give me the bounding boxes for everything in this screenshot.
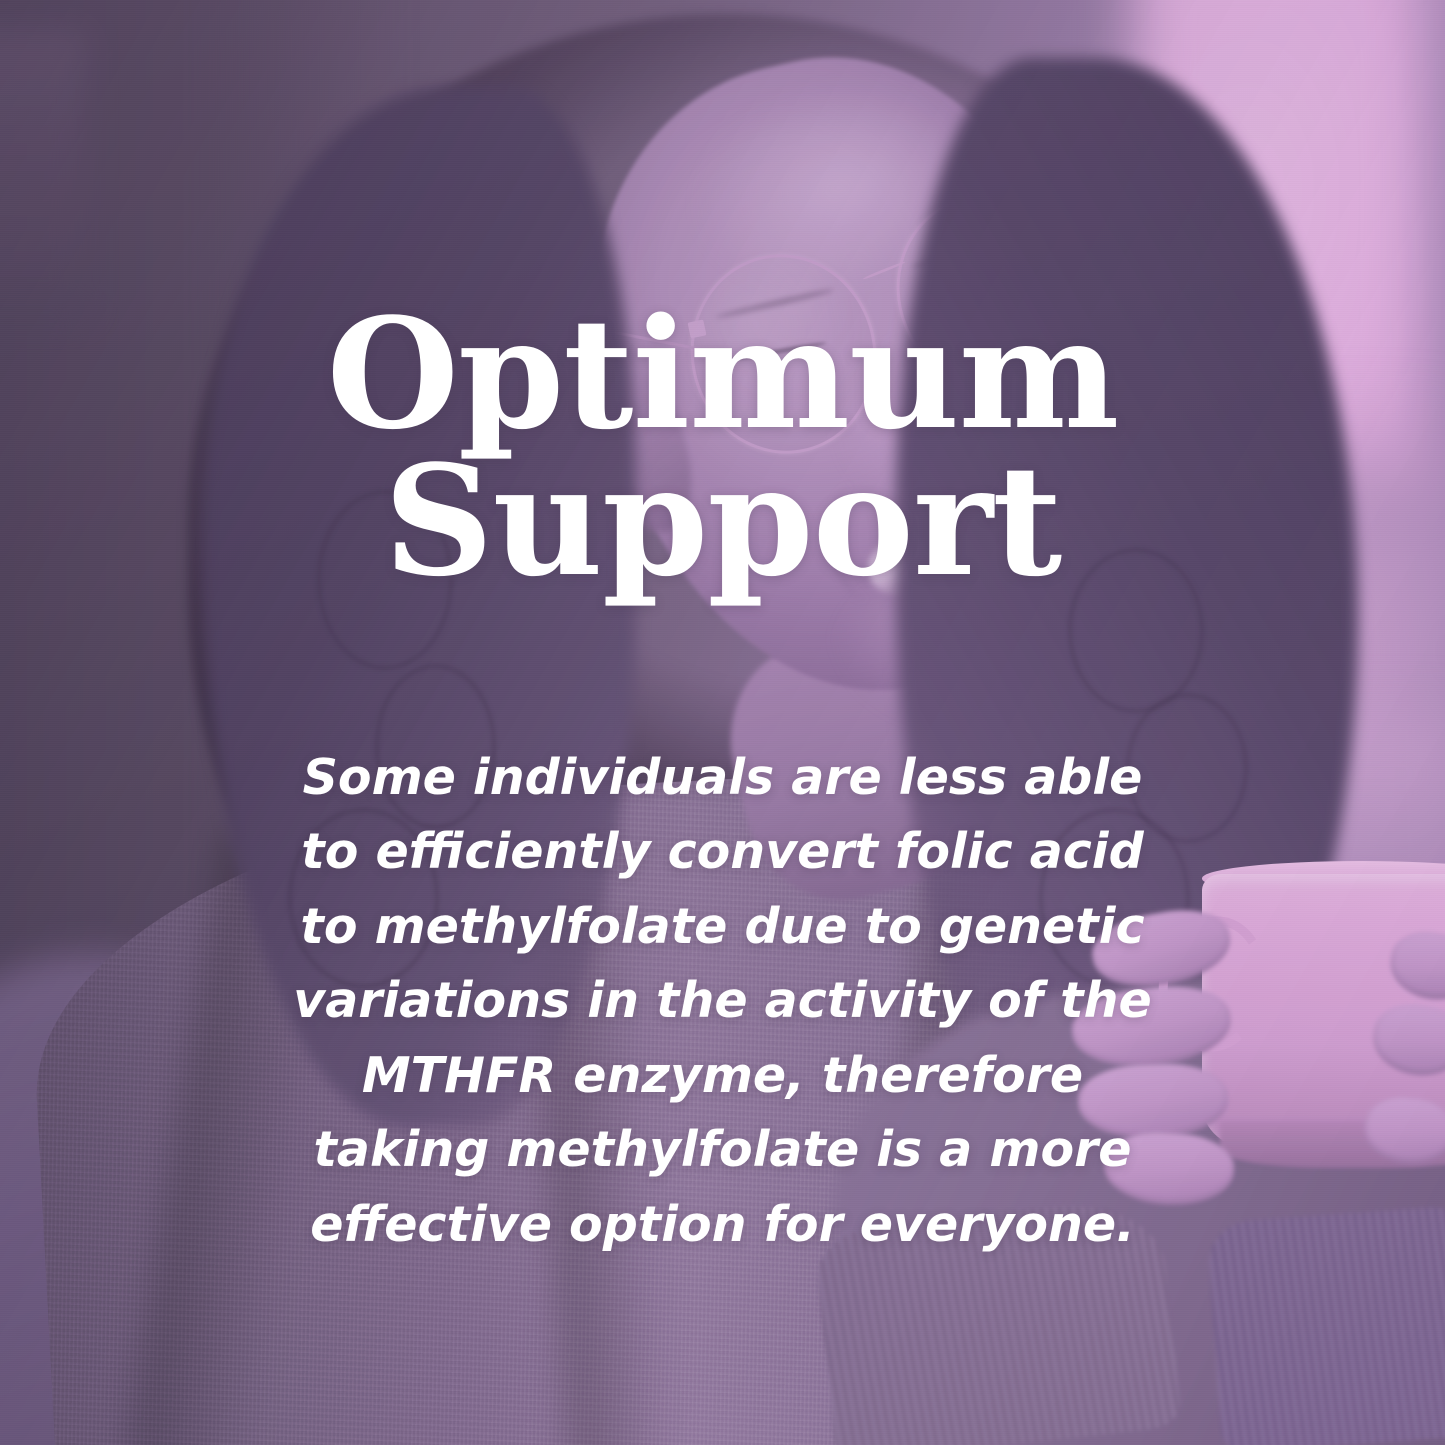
background-photo [0,0,1445,1445]
duotone-screen-layer [0,0,1445,1445]
poster-canvas: Optimum Support Some individuals are les… [0,0,1445,1445]
